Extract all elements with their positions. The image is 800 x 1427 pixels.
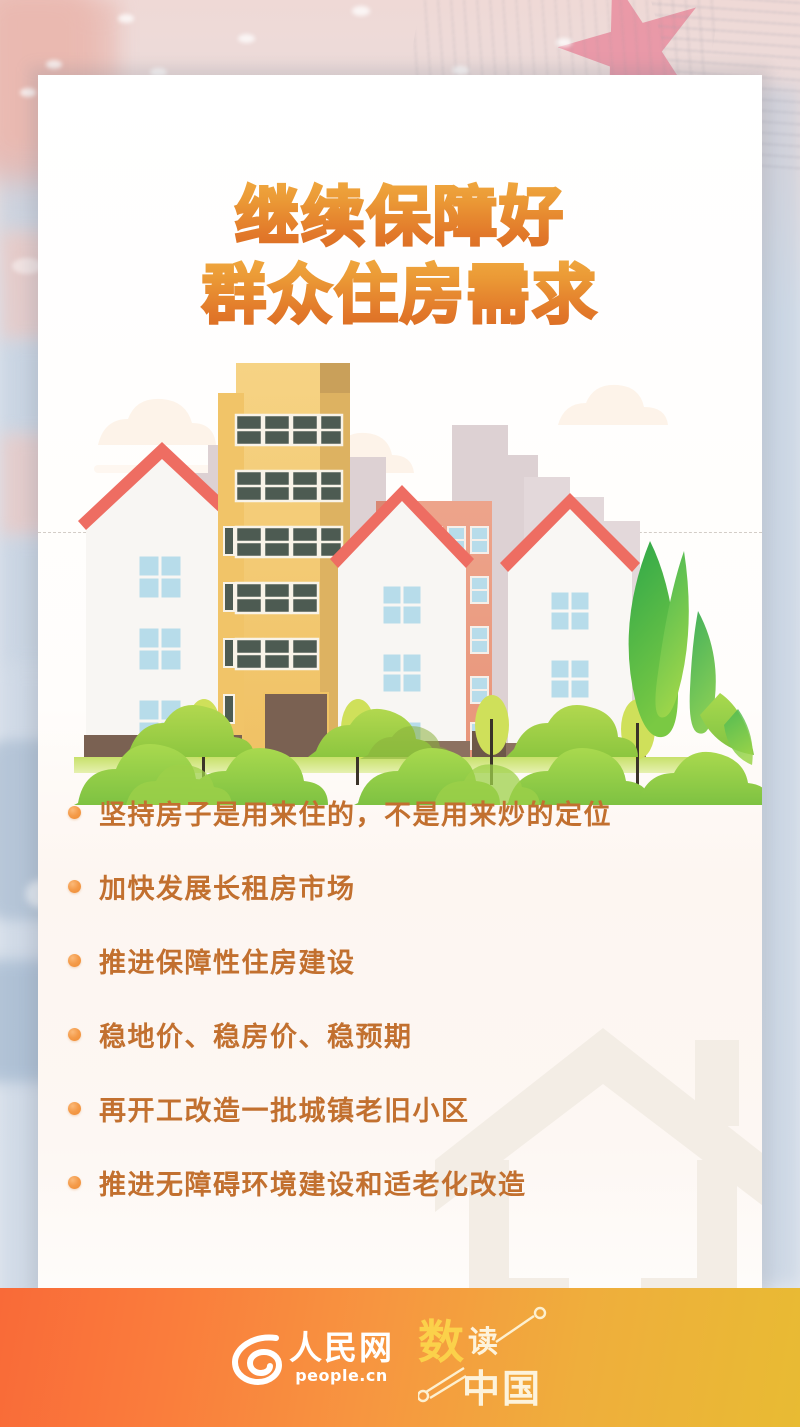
dot-decoration <box>238 34 255 43</box>
bullet-dot-icon <box>68 954 81 967</box>
shudu-zhongguo-logo[interactable]: 数 读 中 国 <box>418 1306 568 1410</box>
people-logo-name: 人民网 <box>289 1331 394 1365</box>
title-line-2: 群众住房需求 <box>38 257 762 335</box>
bullet-dot-icon <box>68 1028 81 1041</box>
node-circle-icon <box>418 1391 428 1401</box>
people-logo-domain: people.cn <box>295 1366 388 1385</box>
policy-bullet-list: 坚持房子是用来住的，不是用来炒的定位 加快发展长租房市场 推进保障性住房建设 稳… <box>38 775 762 1219</box>
list-item: 加快发展长租房市场 <box>38 849 762 923</box>
dot-decoration <box>118 14 134 23</box>
list-item-label: 坚持房子是用来住的，不是用来炒的定位 <box>99 793 612 832</box>
list-item: 推进无障碍环境建设和适老化改造 <box>38 1145 762 1219</box>
bullet-dot-icon <box>68 806 81 819</box>
node-circle-icon <box>535 1308 545 1318</box>
bullet-dot-icon <box>68 1176 81 1189</box>
list-item: 稳地价、稳房价、稳预期 <box>38 997 762 1071</box>
title-line-1: 继续保障好 <box>38 179 762 257</box>
shudu-char-3: 中 <box>462 1366 500 1410</box>
poster-card: 继续保障好 群众住房需求 <box>38 75 762 1288</box>
people-swirl-icon <box>232 1331 282 1385</box>
bullet-dot-icon <box>68 880 81 893</box>
list-item: 推进保障性住房建设 <box>38 923 762 997</box>
people-cn-logo[interactable]: 人民网 people.cn <box>232 1331 394 1385</box>
list-item: 坚持房子是用来住的，不是用来炒的定位 <box>38 775 762 849</box>
list-item-label: 推进无障碍环境建设和适老化改造 <box>99 1163 527 1202</box>
buildings-illustration <box>38 305 762 805</box>
list-item-label: 稳地价、稳房价、稳预期 <box>99 1015 413 1054</box>
dot-decoration <box>556 38 572 47</box>
bullet-dot-icon <box>68 1102 81 1115</box>
shudu-char-4: 国 <box>502 1366 540 1410</box>
footer-bar: 人民网 people.cn 数 读 中 国 <box>0 1288 800 1427</box>
list-item-label: 加快发展长租房市场 <box>99 867 356 906</box>
shudu-char-2: 读 <box>468 1325 498 1360</box>
page-title: 继续保障好 群众住房需求 <box>38 179 762 335</box>
shudu-char-1: 数 <box>418 1315 464 1369</box>
dot-decoration <box>352 6 370 16</box>
list-item-label: 再开工改造一批城镇老旧小区 <box>99 1089 470 1128</box>
list-item: 再开工改造一批城镇老旧小区 <box>38 1071 762 1145</box>
list-item-label: 推进保障性住房建设 <box>99 941 356 980</box>
